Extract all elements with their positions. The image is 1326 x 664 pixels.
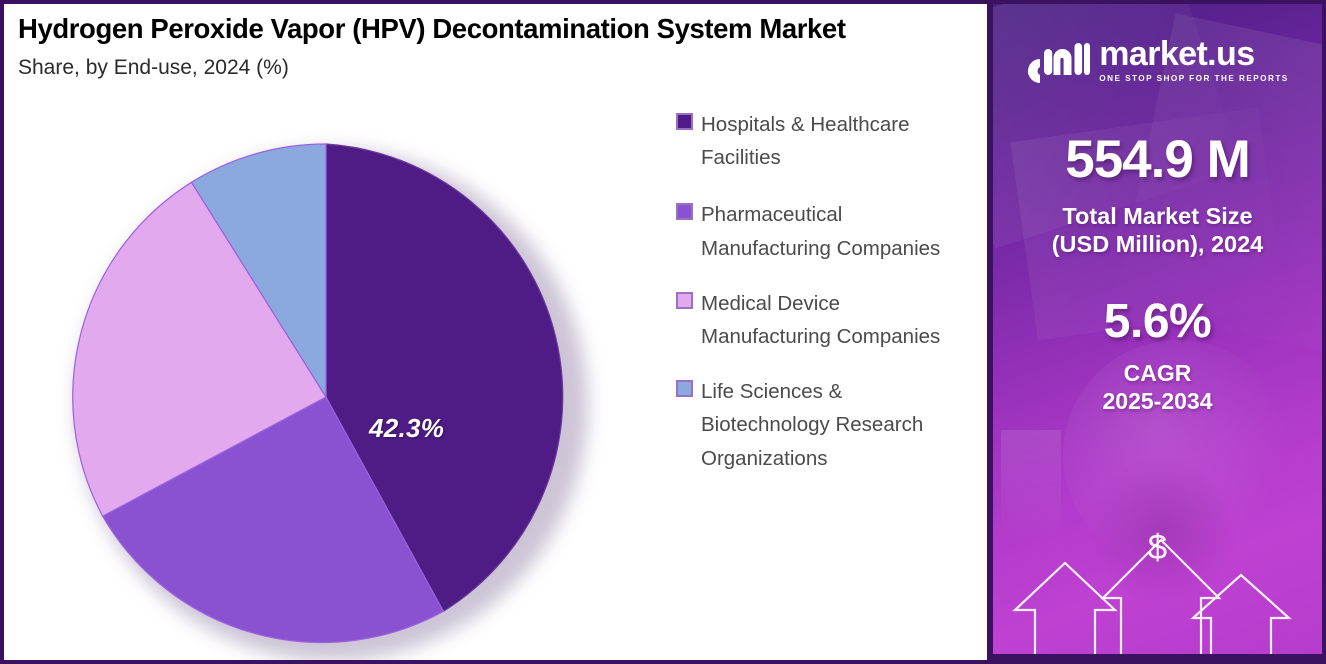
logo-wordmark: market.us — [1099, 37, 1288, 71]
cagr-value: 5.6% — [993, 294, 1322, 349]
pie-slice-value-label: 42.3% — [369, 413, 444, 444]
legend-item-pharmaceutical[interactable]: Pharmaceutical Manufacturing Companies — [676, 198, 976, 264]
legend-item-life-sciences[interactable]: Life Sciences & Biotechnology Research O… — [676, 375, 976, 475]
legend-item-label: Pharmaceutical Manufacturing Companies — [701, 198, 961, 264]
legend-swatch-icon — [676, 113, 693, 130]
market-size-caption-line-2: (USD Million), 2024 — [993, 230, 1322, 258]
legend-item-hospitals[interactable]: Hospitals & Healthcare Facilities — [676, 108, 976, 174]
pie-chart: 42.3% — [64, 135, 592, 663]
legend-item-medical-device[interactable]: Medical Device Manufacturing Companies — [676, 287, 976, 353]
pie-slices — [71, 142, 581, 652]
cagr-caption-line-2: 2025-2034 — [993, 387, 1322, 415]
legend-swatch-icon — [676, 380, 693, 397]
brand-logo[interactable]: market.us ONE STOP SHOP FOR THE REPORTS — [993, 37, 1322, 83]
page-title: Hydrogen Peroxide Vapor (HPV) Decontamin… — [18, 14, 987, 45]
growth-arrows-graphic — [993, 515, 1326, 660]
up-arrow-icon — [1103, 540, 1219, 660]
chart-panel: Hydrogen Peroxide Vapor (HPV) Decontamin… — [0, 0, 990, 664]
market-us-logo-icon — [1026, 37, 1090, 83]
cagr-caption-line-1: CAGR — [993, 359, 1322, 387]
panel-bottom-strip — [993, 654, 1326, 660]
stats-panel: market.us ONE STOP SHOP FOR THE REPORTS … — [990, 0, 1326, 664]
legend: Hospitals & Healthcare Facilities Pharma… — [676, 108, 976, 475]
up-arrow-icon — [1015, 563, 1115, 660]
chart-subtitle: Share, by End-use, 2024 (%) — [18, 56, 987, 80]
market-size-caption-line-1: Total Market Size — [993, 202, 1322, 230]
legend-swatch-icon — [676, 203, 693, 220]
cagr-caption: CAGR 2025-2034 — [993, 359, 1322, 415]
market-size-caption: Total Market Size (USD Million), 2024 — [993, 202, 1322, 258]
market-size-value: 554.9 M — [993, 129, 1322, 190]
legend-item-label: Hospitals & Healthcare Facilities — [701, 108, 961, 174]
legend-item-label: Medical Device Manufacturing Companies — [701, 287, 961, 353]
title-block: Hydrogen Peroxide Vapor (HPV) Decontamin… — [4, 4, 987, 80]
legend-item-label: Life Sciences & Biotechnology Research O… — [701, 375, 961, 475]
infographic-root: Hydrogen Peroxide Vapor (HPV) Decontamin… — [0, 0, 1326, 664]
logo-tagline: ONE STOP SHOP FOR THE REPORTS — [1099, 74, 1288, 83]
legend-swatch-icon — [676, 292, 693, 309]
logo-text-block: market.us ONE STOP SHOP FOR THE REPORTS — [1099, 37, 1288, 83]
